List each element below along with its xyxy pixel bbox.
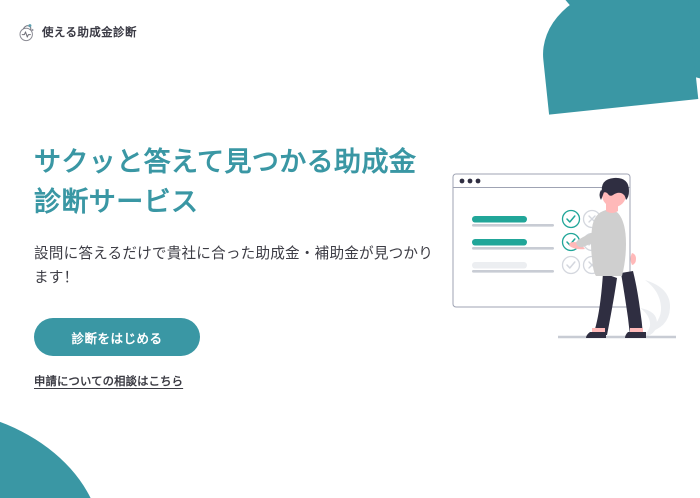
hero-subtitle: 設問に答えるだけで貴社に合った助成金・補助金が見つかります！	[34, 243, 434, 290]
person-answering-questionnaire-illustration	[440, 160, 690, 355]
window-dots	[460, 179, 481, 184]
bottom-left-blob-decoration	[0, 409, 113, 498]
site-logo[interactable]: 使える助成金診断	[17, 22, 137, 42]
hero-illustration	[440, 160, 690, 355]
start-diagnosis-button[interactable]: 診断をはじめる	[34, 318, 200, 356]
swirl-decoration	[640, 280, 670, 338]
top-right-blob-decoration	[530, 0, 700, 113]
consultation-link[interactable]: 申請についての相談はこちら	[34, 373, 183, 389]
diagnosis-mark-icon	[17, 22, 36, 42]
site-logo-label: 使える助成金診断	[42, 24, 137, 40]
landing-page: 使える助成金診断 サクッと答えて見つかる助成金診断サービス 設問に答えるだけで貴…	[0, 0, 700, 498]
hero-section: サクッと答えて見つかる助成金診断サービス 設問に答えるだけで貴社に合った助成金・…	[34, 143, 434, 390]
page-title: サクッと答えて見つかる助成金診断サービス	[34, 143, 434, 223]
